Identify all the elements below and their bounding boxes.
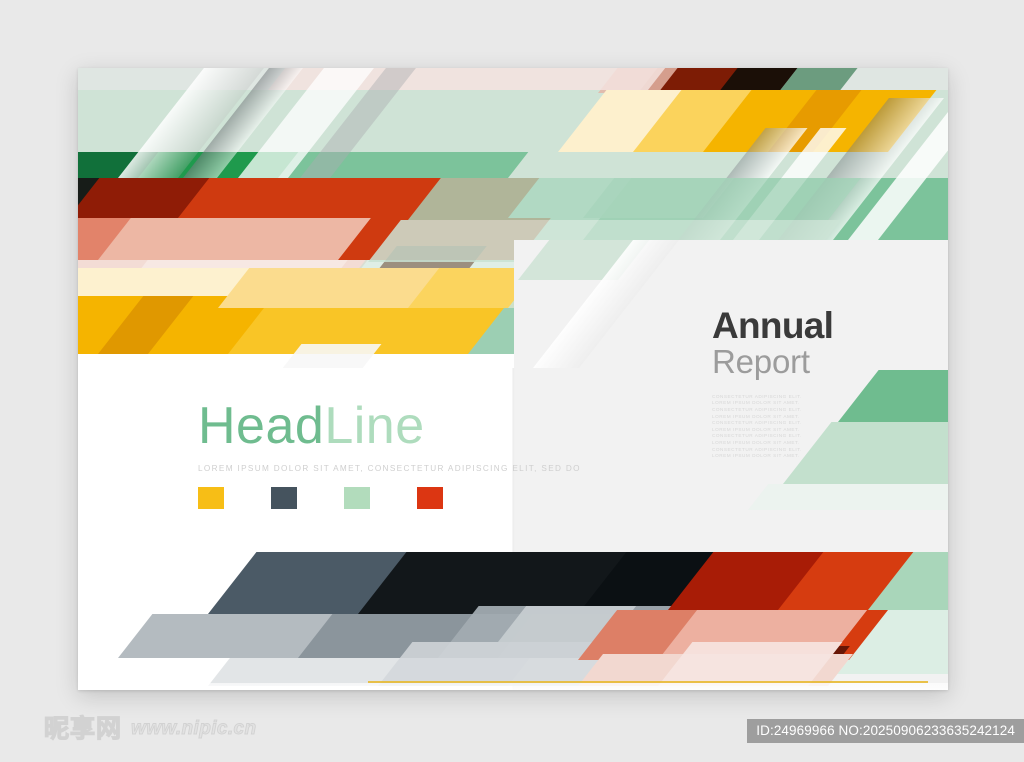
body-line: CONSECTETUR ADIPISCING ELIT. <box>712 420 942 425</box>
swatch-amber <box>198 487 224 509</box>
body-line: CONSECTETUR ADIPISCING ELIT. <box>712 447 942 452</box>
watermark-logo-text: 昵享网 <box>44 716 122 741</box>
report-subtitle: Report <box>712 345 942 380</box>
headline-text: HeadLine <box>198 400 581 452</box>
body-line: LOREM IPSUM DOLOR SIT AMET. <box>712 400 942 405</box>
body-line: CONSECTETUR ADIPISCING ELIT. <box>712 433 942 438</box>
headline-subline: LOREM IPSUM DOLOR SIT AMET, CONSECTETUR … <box>198 464 581 473</box>
report-title: Annual <box>712 308 942 343</box>
swatch-slate <box>271 487 297 509</box>
bottom-geometric-artwork <box>78 538 948 690</box>
annual-report-block: Annual Report CONSECTETUR ADIPISCING ELI… <box>712 308 942 460</box>
shape-parallelogram-green-sheet <box>408 178 861 220</box>
body-line: LOREM IPSUM DOLOR SIT AMET. <box>712 453 942 458</box>
shape-bottom-fade <box>78 683 948 690</box>
body-line: LOREM IPSUM DOLOR SIT AMET. <box>712 414 942 419</box>
brochure-spread: HeadLine LOREM IPSUM DOLOR SIT AMET, CON… <box>78 68 948 690</box>
headline-part-line: Line <box>324 397 424 455</box>
shape-trapezoid-green-pale <box>748 484 948 510</box>
body-line: CONSECTETUR ADIPISCING ELIT. <box>712 407 942 412</box>
body-line: LOREM IPSUM DOLOR SIT AMET. <box>712 427 942 432</box>
color-swatch-row <box>198 487 581 509</box>
image-id-badge: ID:24969966 NO:20250906233635242124 <box>747 719 1024 743</box>
headline-part-head: Head <box>198 397 324 455</box>
site-watermark: 昵享网 www.nipic.cn <box>44 716 257 741</box>
report-body-text: CONSECTETUR ADIPISCING ELIT. LOREM IPSUM… <box>712 394 942 458</box>
headline-block: HeadLine LOREM IPSUM DOLOR SIT AMET, CON… <box>198 400 581 509</box>
body-line: LOREM IPSUM DOLOR SIT AMET. <box>712 440 942 445</box>
shape-parallelogram-salmon-pale <box>98 218 371 260</box>
body-line: CONSECTETUR ADIPISCING ELIT. <box>712 394 942 399</box>
swatch-red <box>417 487 443 509</box>
screenshot-canvas: HeadLine LOREM IPSUM DOLOR SIT AMET, CON… <box>0 0 1024 762</box>
watermark-url: www.nipic.cn <box>131 718 257 740</box>
swatch-mint <box>344 487 370 509</box>
